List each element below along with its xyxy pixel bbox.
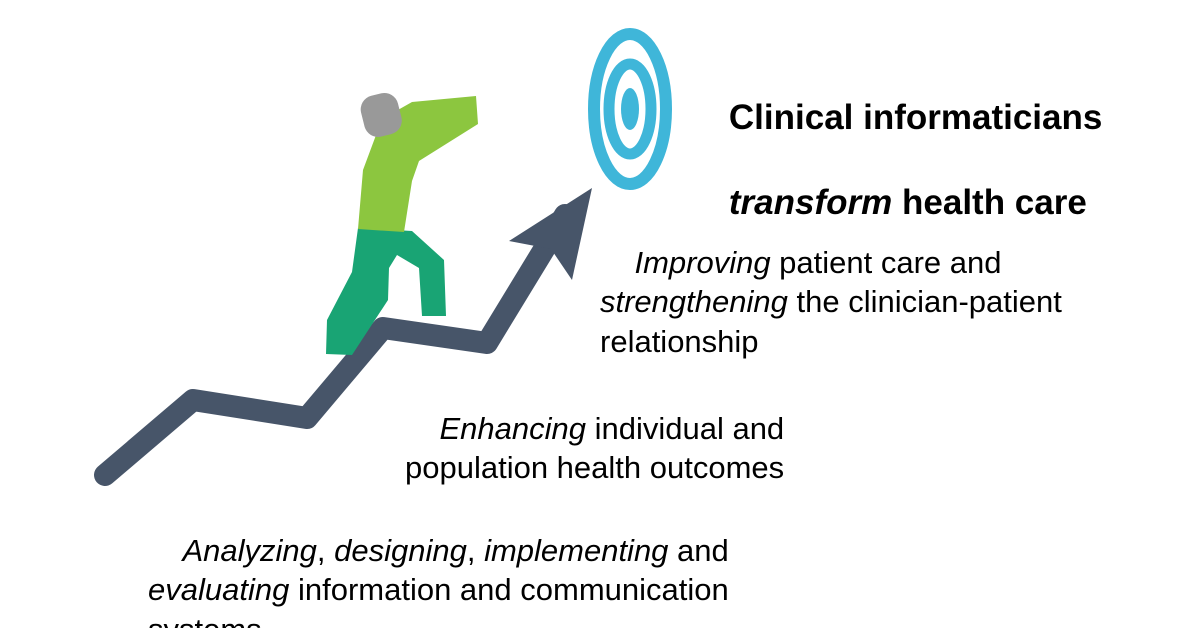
callout-analyzing-fourth: evaluating bbox=[148, 572, 289, 607]
headline-line-1: Clinical informaticians bbox=[729, 98, 1102, 137]
callout-analyzing: Analyzing, designing, implementing and e… bbox=[148, 491, 768, 628]
callout-analyzing-second: designing bbox=[334, 533, 467, 568]
callout-enhancing-lead: Enhancing bbox=[439, 411, 586, 446]
callout-analyzing-sep-2: , bbox=[467, 533, 484, 568]
callout-improving-lead: Improving bbox=[634, 245, 770, 280]
infographic-canvas: Clinical informaticians transform health… bbox=[0, 0, 1200, 628]
climbing-person-icon bbox=[326, 90, 478, 355]
callout-analyzing-lead: Analyzing bbox=[182, 533, 316, 568]
callout-analyzing-third: implementing bbox=[484, 533, 668, 568]
target-ring-inner-bull bbox=[621, 88, 639, 130]
callout-improving-second: strengthening bbox=[600, 284, 788, 319]
callout-analyzing-and: and bbox=[668, 533, 737, 568]
callout-analyzing-sep-1: , bbox=[317, 533, 334, 568]
bullseye-target-icon bbox=[594, 34, 666, 184]
callout-improving-mid: patient care and bbox=[771, 245, 1002, 280]
